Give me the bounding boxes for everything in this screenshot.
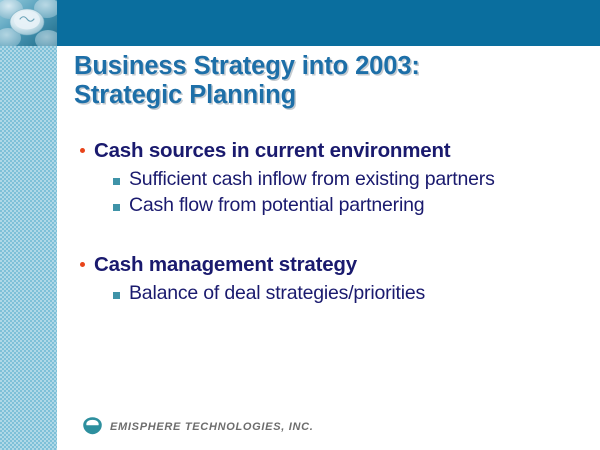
- dot-bullet-icon: [80, 148, 85, 153]
- bullet-level2: Balance of deal strategies/priorities: [113, 281, 585, 306]
- left-sidebar-pattern: [0, 46, 57, 450]
- bullet-level1: Cash management strategy: [80, 252, 585, 277]
- title-line-2: Strategic Planning: [74, 81, 579, 110]
- vials-photo-image: [0, 0, 57, 46]
- slide-body: Cash sources in current environment Suff…: [80, 138, 585, 307]
- bullet-level1-label: Cash management strategy: [94, 252, 357, 277]
- bullet-level2: Sufficient cash inflow from existing par…: [113, 167, 585, 192]
- dot-bullet-icon: [80, 262, 85, 267]
- bullet-level2-label: Cash flow from potential partnering: [129, 193, 424, 218]
- bullet-level2: Cash flow from potential partnering: [113, 193, 585, 218]
- bullet-group-2: Cash management strategy Balance of deal…: [80, 252, 585, 306]
- square-bullet-icon: [113, 292, 120, 299]
- bullet-group-1: Cash sources in current environment Suff…: [80, 138, 585, 218]
- emisphere-bowl-logo-icon: [80, 414, 105, 439]
- square-bullet-icon: [113, 204, 120, 211]
- bullet-level1: Cash sources in current environment: [80, 138, 585, 163]
- bullet-level2-label: Sufficient cash inflow from existing par…: [129, 167, 495, 192]
- square-bullet-icon: [113, 178, 120, 185]
- top-banner: [57, 0, 600, 46]
- company-name: EMISPHERE TECHNOLOGIES, INC.: [110, 421, 314, 433]
- bullet-level2-label: Balance of deal strategies/priorities: [129, 281, 425, 306]
- bullet-level1-label: Cash sources in current environment: [94, 138, 450, 163]
- page-title: Business Strategy into 2003: Strategic P…: [74, 52, 579, 110]
- title-line-1: Business Strategy into 2003:: [74, 52, 579, 81]
- presentation-slide: Business Strategy into 2003: Strategic P…: [0, 0, 600, 450]
- slide-footer: EMISPHERE TECHNOLOGIES, INC.: [80, 414, 314, 439]
